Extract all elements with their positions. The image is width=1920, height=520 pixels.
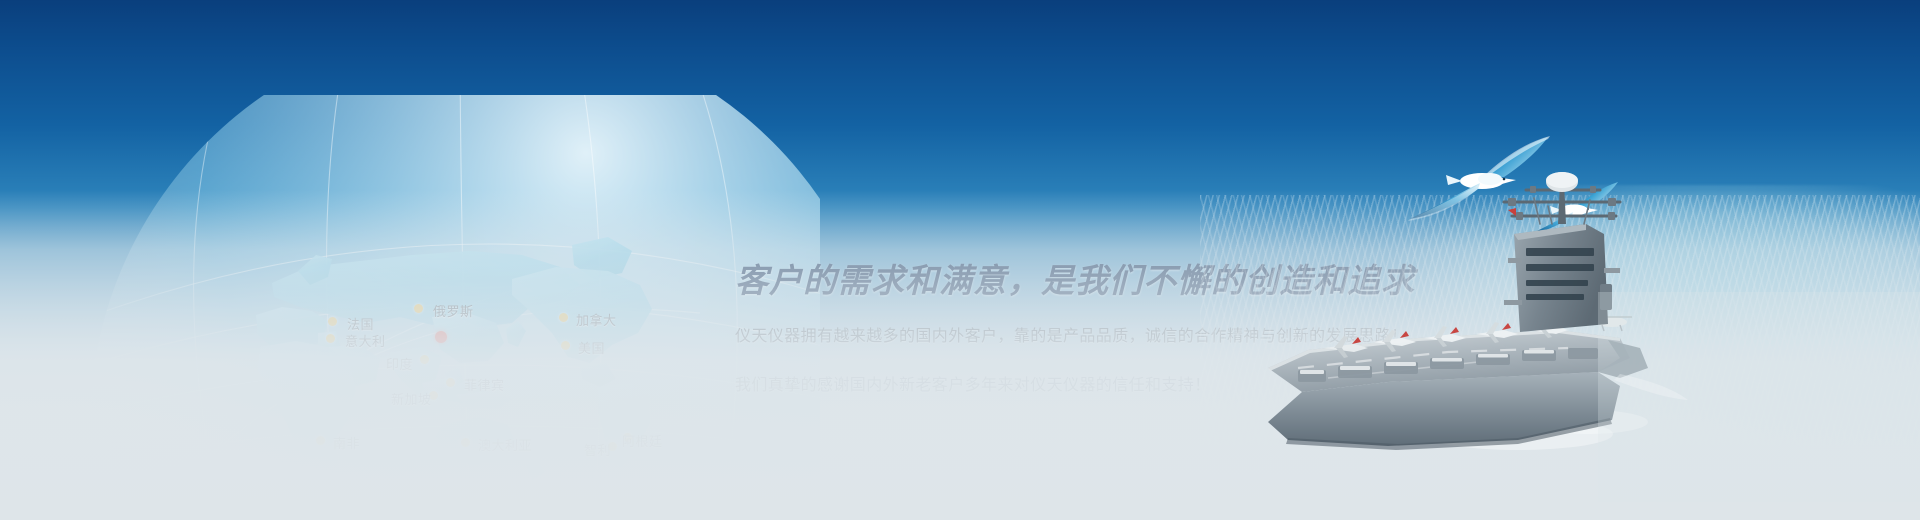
map-marker-usa [561,341,570,350]
map-label-argentina: 阿根廷 [622,431,663,450]
map-marker-india [420,355,429,364]
map-marker-italy [326,334,335,343]
map-marker-philippines [446,378,455,387]
map-label-south-africa: 南非 [333,433,360,452]
seagull-icon [1398,131,1566,232]
map-label-italy: 意大利 [345,331,386,350]
body-line-2: 我们真挚的感谢国内外新老客户多年来对仪天仪器的信任和支持！ [735,369,1515,402]
landmasses [256,237,652,481]
map-label-chile: 智利 [584,440,611,459]
route-lines [210,265,700,455]
map-marker-canada [559,313,568,322]
map-label-usa: 美国 [578,338,605,357]
map-label-russia: 俄罗斯 [433,301,474,320]
graticule-latitudes [92,244,820,507]
seagull-icon [1522,178,1626,245]
map-label-singapore: 新加坡 [391,389,432,408]
map-marker-argentina [623,433,632,442]
map-label-india: 印度 [386,354,413,373]
hero-banner: 法国意大利俄罗斯印度加拿大美国菲律宾新加坡南非澳大利亚智利阿根廷 客户的需求和满… [0,0,1920,520]
map-marker-russia [414,304,423,313]
body-line-1: 仪天仪器拥有越来越多的国内外客户，靠的是产品品质，诚信的合作精神与创新的发展思路… [735,320,1515,353]
map-marker-singapore [429,391,438,400]
page-title: 客户的需求和满意，是我们不懈的创造和追求 [735,258,1515,304]
map-label-philippines: 菲律宾 [464,375,505,394]
globe-svg [60,95,820,520]
map-marker-chile [608,442,617,451]
copy-block: 客户的需求和满意，是我们不懈的创造和追求 仪天仪器拥有越来越多的国内外客户，靠的… [735,258,1515,418]
world-globe: 法国意大利俄罗斯印度加拿大美国菲律宾新加坡南非澳大利亚智利阿根廷 [60,95,820,520]
map-marker-australia [461,438,470,447]
carrier-island [1504,172,1620,332]
map-label-australia: 澳大利亚 [478,435,532,454]
map-marker-france [328,317,337,326]
graticule-longitudes [194,95,738,520]
map-label-canada: 加拿大 [576,310,617,329]
map-label-france: 法国 [347,314,374,333]
map-marker-south-africa [316,436,325,445]
map-marker-china [435,331,447,343]
